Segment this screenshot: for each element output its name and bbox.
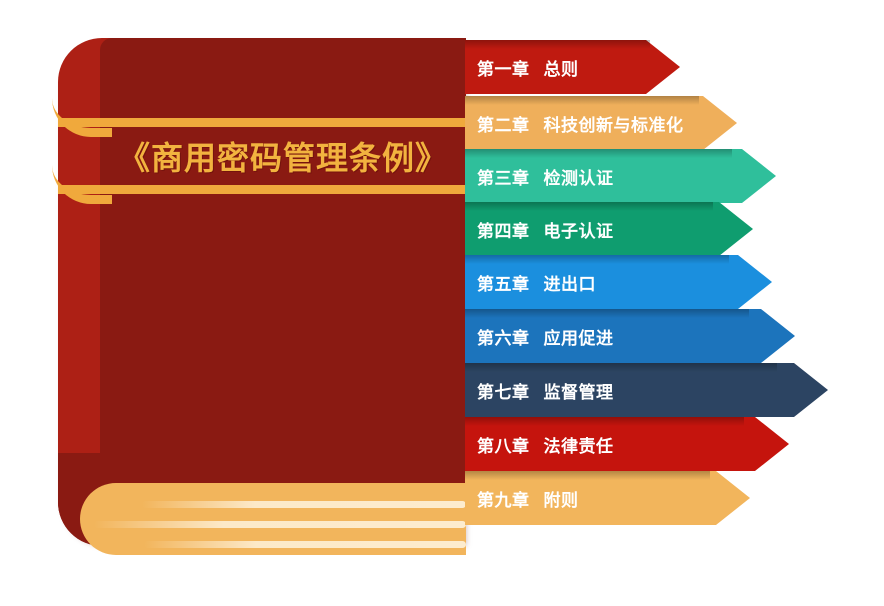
chapter-title: 进出口 bbox=[544, 275, 597, 294]
chapter-banner-9[interactable]: 第九章附则 bbox=[465, 471, 750, 525]
chapter-number: 第七章 bbox=[477, 383, 530, 402]
chapter-label: 第五章进出口 bbox=[465, 270, 596, 295]
gold-band-bottom bbox=[58, 185, 466, 194]
chapter-label: 第四章电子认证 bbox=[465, 217, 614, 242]
gold-band-top bbox=[58, 118, 466, 127]
chapter-title: 总则 bbox=[544, 60, 579, 79]
chapter-title: 监督管理 bbox=[544, 383, 614, 402]
chapter-banner-4[interactable]: 第四章电子认证 bbox=[465, 202, 753, 256]
chapter-title: 应用促进 bbox=[544, 329, 614, 348]
chapter-banner-8[interactable]: 第八章法律责任 bbox=[465, 417, 789, 471]
chapter-number: 第八章 bbox=[477, 437, 530, 456]
chapter-title: 附则 bbox=[544, 491, 579, 510]
chapter-number: 第二章 bbox=[477, 116, 530, 135]
chapter-list: 第一章总则第二章科技创新与标准化第三章检测认证第四章电子认证第五章进出口第六章应… bbox=[465, 38, 884, 568]
infographic-canvas: 《商用密码管理条例》 第一章总则第二章科技创新与标准化第三章检测认证第四章电子认… bbox=[0, 0, 884, 606]
chapter-title: 法律责任 bbox=[544, 437, 614, 456]
chapter-banner-6[interactable]: 第六章应用促进 bbox=[465, 309, 795, 363]
page-streak-line bbox=[94, 521, 466, 528]
page-streak-line bbox=[144, 541, 466, 548]
book-graphic: 《商用密码管理条例》 bbox=[58, 38, 466, 546]
chapter-number: 第六章 bbox=[477, 329, 530, 348]
chapter-banner-1[interactable]: 第一章总则 bbox=[465, 40, 680, 94]
chapter-number: 第一章 bbox=[477, 60, 530, 79]
book-title: 《商用密码管理条例》 bbox=[100, 127, 466, 185]
chapter-label: 第二章科技创新与标准化 bbox=[465, 111, 684, 136]
chapter-title: 科技创新与标准化 bbox=[544, 116, 684, 135]
chapter-label: 第一章总则 bbox=[465, 55, 579, 80]
chapter-banner-5[interactable]: 第五章进出口 bbox=[465, 255, 772, 309]
chapter-banner-3[interactable]: 第三章检测认证 bbox=[465, 149, 776, 203]
chapter-title: 检测认证 bbox=[544, 169, 614, 188]
chapter-number: 第九章 bbox=[477, 491, 530, 510]
chapter-number: 第四章 bbox=[477, 222, 530, 241]
chapter-banner-7[interactable]: 第七章监督管理 bbox=[465, 363, 828, 417]
book-pages bbox=[80, 483, 466, 555]
chapter-label: 第七章监督管理 bbox=[465, 378, 614, 403]
book-front-cover bbox=[100, 38, 466, 508]
chapter-title: 电子认证 bbox=[544, 222, 614, 241]
chapter-number: 第五章 bbox=[477, 275, 530, 294]
chapter-label: 第八章法律责任 bbox=[465, 432, 614, 457]
page-streak-line bbox=[142, 501, 466, 508]
chapter-number: 第三章 bbox=[477, 169, 530, 188]
chapter-banner-2[interactable]: 第二章科技创新与标准化 bbox=[465, 96, 737, 150]
chapter-label: 第九章附则 bbox=[465, 486, 579, 511]
chapter-label: 第六章应用促进 bbox=[465, 324, 614, 349]
chapter-label: 第三章检测认证 bbox=[465, 164, 614, 189]
